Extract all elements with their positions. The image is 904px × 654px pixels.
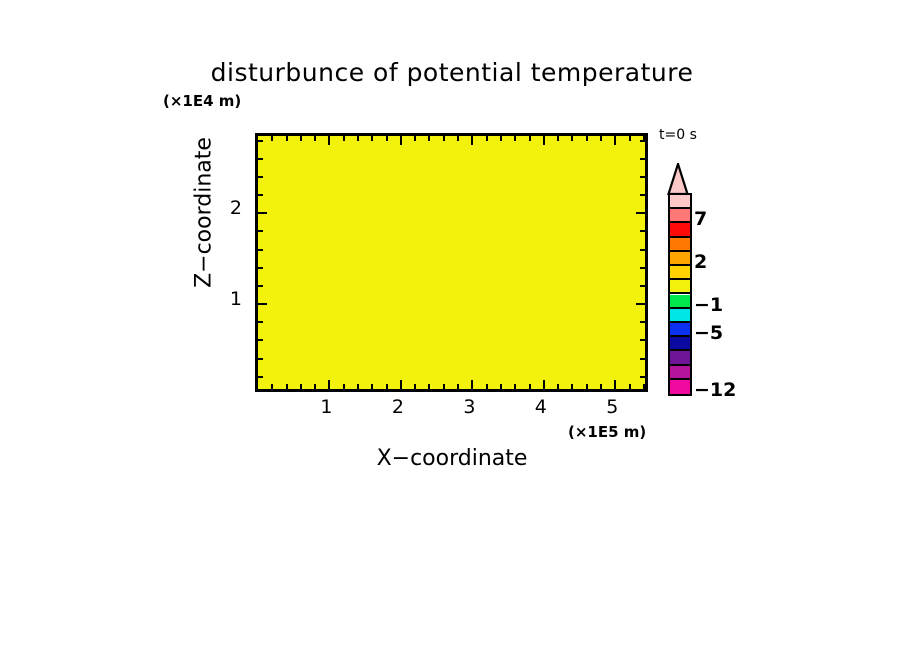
- time-annotation: t=0 s: [659, 127, 697, 143]
- colorbar-band: [670, 295, 690, 309]
- y-minor-tick: [258, 358, 263, 360]
- x-minor-tick: [571, 384, 573, 389]
- y-minor-tick: [640, 267, 645, 269]
- x-tick-label: 4: [521, 396, 561, 418]
- x-minor-tick: [557, 136, 559, 141]
- x-minor-tick: [343, 136, 345, 141]
- y-major-tick: [258, 303, 267, 305]
- y-minor-tick: [258, 339, 263, 341]
- x-minor-tick: [300, 384, 302, 389]
- y-minor-tick: [258, 230, 263, 232]
- x-minor-tick: [557, 384, 559, 389]
- y-minor-tick: [640, 194, 645, 196]
- x-tick-label: 3: [449, 396, 489, 418]
- x-minor-tick: [386, 384, 388, 389]
- x-major-tick: [328, 380, 330, 389]
- x-minor-tick: [486, 384, 488, 389]
- x-minor-tick: [514, 384, 516, 389]
- plot-area: [255, 133, 648, 392]
- colorbar-band: [670, 280, 690, 294]
- x-minor-tick: [629, 136, 631, 141]
- y-minor-tick: [258, 285, 263, 287]
- x-tick-label: 5: [592, 396, 632, 418]
- colorbar-band: [670, 238, 690, 252]
- colorbar-tick-label: −1: [694, 294, 723, 316]
- x-minor-tick: [586, 136, 588, 141]
- y-tick-label: 1: [212, 288, 242, 310]
- x-minor-tick: [457, 384, 459, 389]
- x-minor-tick: [571, 136, 573, 141]
- y-minor-tick: [640, 376, 645, 378]
- x-minor-tick: [343, 384, 345, 389]
- y-minor-tick: [640, 321, 645, 323]
- x-minor-tick: [357, 384, 359, 389]
- x-minor-tick: [286, 384, 288, 389]
- x-minor-tick: [486, 136, 488, 141]
- y-axis-title: Z−coordinate: [192, 3, 217, 423]
- colorbar-band: [670, 309, 690, 323]
- x-minor-tick: [271, 136, 273, 141]
- colorbar-band: [670, 195, 690, 209]
- colorbar-arrow-icon: [666, 163, 690, 195]
- x-major-tick: [614, 380, 616, 389]
- x-minor-tick: [643, 384, 645, 389]
- x-tick-label: 2: [378, 396, 418, 418]
- x-minor-tick: [600, 136, 602, 141]
- colorbar-tick-label: −5: [694, 322, 723, 344]
- x-axis-title: X−coordinate: [255, 446, 649, 471]
- y-minor-tick: [640, 230, 645, 232]
- x-minor-tick: [300, 136, 302, 141]
- x-minor-tick: [514, 136, 516, 141]
- colorbar-band: [670, 337, 690, 351]
- y-minor-tick: [258, 140, 263, 142]
- x-major-tick: [471, 380, 473, 389]
- y-minor-tick: [640, 158, 645, 160]
- colorbar-tick-label: 7: [694, 208, 707, 230]
- x-minor-tick: [314, 384, 316, 389]
- colorbar-band: [670, 323, 690, 337]
- x-minor-tick: [414, 384, 416, 389]
- y-major-tick: [636, 303, 645, 305]
- x-minor-tick: [314, 136, 316, 141]
- colorbar-band: [670, 223, 690, 237]
- x-major-tick: [614, 136, 616, 145]
- x-minor-tick: [500, 384, 502, 389]
- colorbar-band: [670, 351, 690, 365]
- x-minor-tick: [600, 384, 602, 389]
- y-tick-label: 2: [212, 197, 242, 219]
- x-minor-tick: [529, 136, 531, 141]
- x-minor-tick: [371, 136, 373, 141]
- x-major-tick: [400, 380, 402, 389]
- x-minor-tick: [629, 384, 631, 389]
- x-minor-tick: [428, 136, 430, 141]
- x-axis-unit-label: (×1E5 m): [568, 423, 646, 441]
- x-minor-tick: [371, 384, 373, 389]
- y-minor-tick: [258, 158, 263, 160]
- y-minor-tick: [640, 176, 645, 178]
- colorbar-band: [670, 252, 690, 266]
- x-minor-tick: [414, 136, 416, 141]
- y-minor-tick: [258, 249, 263, 251]
- x-major-tick: [543, 380, 545, 389]
- colorbar-band: [670, 266, 690, 280]
- x-minor-tick: [428, 384, 430, 389]
- x-major-tick: [471, 136, 473, 145]
- colorbar-band: [670, 380, 690, 394]
- x-minor-tick: [500, 136, 502, 141]
- x-major-tick: [543, 136, 545, 145]
- x-minor-tick: [529, 384, 531, 389]
- x-major-tick: [328, 136, 330, 145]
- y-minor-tick: [258, 267, 263, 269]
- y-minor-tick: [640, 285, 645, 287]
- y-minor-tick: [258, 176, 263, 178]
- colorbar-tick-label: −12: [694, 379, 736, 401]
- y-minor-tick: [640, 140, 645, 142]
- colorbar-band: [670, 366, 690, 380]
- page-title: disturbunce of potential temperature: [0, 58, 904, 87]
- y-major-tick: [636, 212, 645, 214]
- y-minor-tick: [258, 194, 263, 196]
- colorbar-tick-label: 2: [694, 251, 707, 273]
- field-fill: [258, 136, 645, 389]
- y-minor-tick: [640, 358, 645, 360]
- x-tick-label: 1: [306, 396, 346, 418]
- y-minor-tick: [640, 249, 645, 251]
- x-minor-tick: [386, 136, 388, 141]
- y-minor-tick: [258, 376, 263, 378]
- y-minor-tick: [640, 339, 645, 341]
- y-minor-tick: [258, 321, 263, 323]
- colorbar-band: [670, 209, 690, 223]
- x-minor-tick: [357, 136, 359, 141]
- x-minor-tick: [457, 136, 459, 141]
- x-minor-tick: [443, 384, 445, 389]
- y-major-tick: [258, 212, 267, 214]
- x-minor-tick: [586, 384, 588, 389]
- colorbar: [668, 193, 692, 396]
- x-minor-tick: [286, 136, 288, 141]
- x-minor-tick: [271, 384, 273, 389]
- x-minor-tick: [443, 136, 445, 141]
- x-major-tick: [400, 136, 402, 145]
